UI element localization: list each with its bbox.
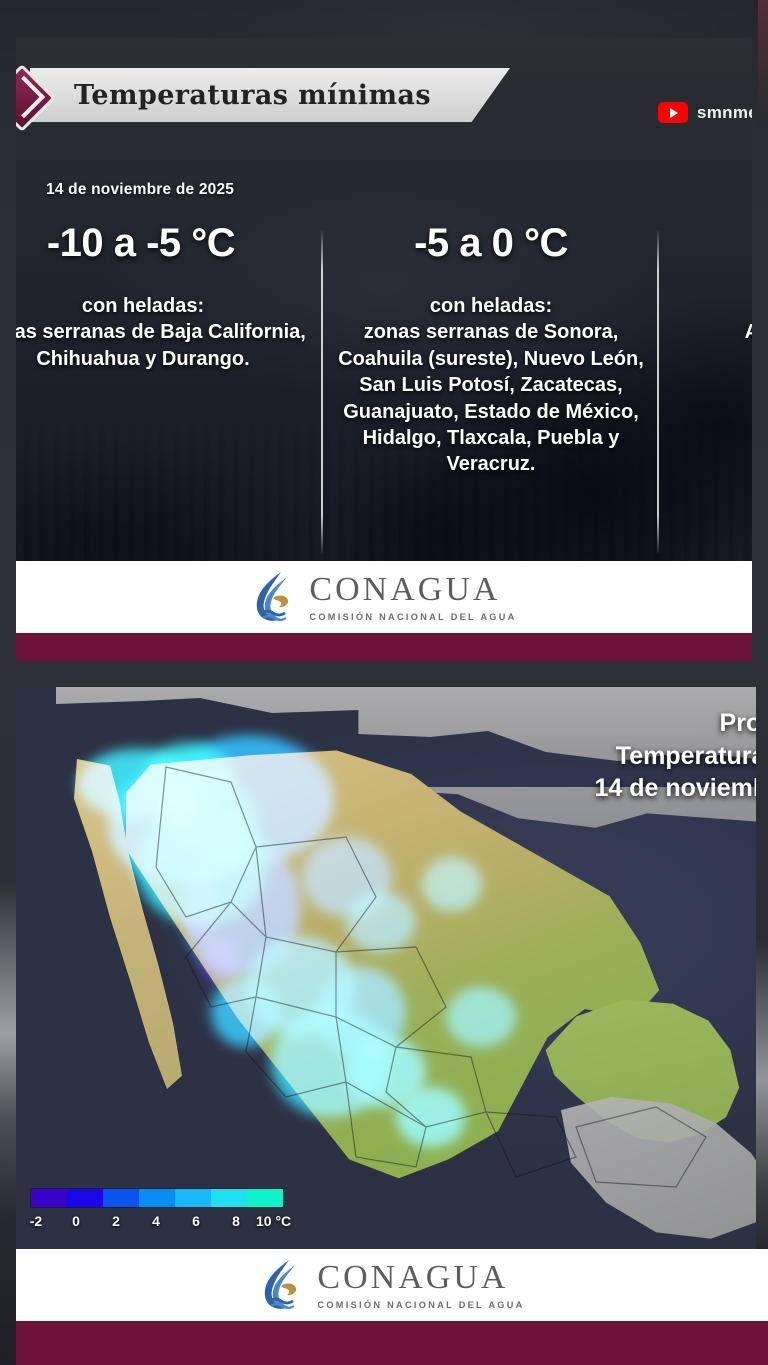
colorbar-swatches [30,1188,284,1208]
slide-mapa-pronostico[interactable]: Pronóst Temperaturas Mí 14 de noviembre … [16,687,756,1249]
colorbar-tick-2: 2 [96,1213,136,1229]
heladas-label-2: con heladas: [332,293,650,319]
temperature-range-1: -10 a -5 °C [16,223,308,263]
colorbar-tick-6: 10 °C [256,1213,306,1229]
temperature-regions-2: con heladas: zonas serranas de Sonora, C… [332,293,650,478]
conagua-logo-text: CONAGUA COMISIÓN NACIONAL DEL AGUA [309,573,516,622]
colorbar-tick-labels: -2 0 2 4 6 8 10 °C [16,1213,306,1229]
conagua-logo-text-bottom: CONAGUA COMISIÓN NACIONAL DEL AGUA [317,1261,524,1310]
column-divider-1 [321,231,323,553]
colorbar-swatch-0 [31,1189,67,1207]
colorbar-swatch-3 [139,1189,175,1207]
maroon-bar-bottom [16,1321,768,1365]
temperature-colorbar-legend: -2 0 2 4 6 8 10 °C [16,1188,316,1229]
conagua-subtitle-bottom: COMISIÓN NACIONAL DEL AGUA [317,1300,524,1310]
regions-text-1: zonas serranas de Baja California, Chihu… [16,321,306,369]
conagua-drop-icon-bottom [259,1258,303,1312]
right-edge-glow [754,940,768,1270]
temperature-regions-1: con heladas: zonas serranas de Baja Cali… [16,293,308,372]
conagua-drop-icon [251,570,295,624]
map-title-line3: 14 de noviembre d [594,772,756,805]
maroon-bar-top [16,633,752,661]
temperature-column-2: -5 a 0 °C con heladas: zonas serranas de… [332,223,650,478]
temperature-column-3: 0 zona Aguasc Michoa [668,223,752,346]
map-title: Pronóst Temperaturas Mí 14 de noviembre … [594,707,756,805]
colorbar-swatch-4 [175,1189,211,1207]
page-title: Temperaturas mínimas [74,80,431,111]
header-banner: Temperaturas mínimas [16,68,516,122]
colorbar-tick-0: -2 [16,1213,56,1229]
top-right-edge-glow [758,0,768,120]
temperature-range-2: -5 a 0 °C [332,223,650,263]
conagua-name-bottom: CONAGUA [317,1261,508,1295]
temperature-columns: -10 a -5 °C con heladas: zonas serranas … [16,223,752,563]
colorbar-tick-4: 6 [176,1213,216,1229]
conagua-name: CONAGUA [309,573,500,607]
conagua-subtitle: COMISIÓN NACIONAL DEL AGUA [309,612,516,622]
regions-text-2: zonas serranas de Sonora, Coahuila (sure… [338,321,644,475]
conagua-logo-bar-top: CONAGUA COMISIÓN NACIONAL DEL AGUA [16,561,752,633]
left-edge-glow [0,880,16,1220]
colorbar-swatch-5 [211,1189,247,1207]
youtube-watermark[interactable]: smnme [658,102,752,123]
banner-shape: Temperaturas mínimas [30,68,510,122]
column-divider-2 [657,231,659,553]
colorbar-swatch-1 [67,1189,103,1207]
colorbar-swatch-2 [103,1189,139,1207]
heladas-label-1: con heladas: [16,293,308,319]
youtube-play-icon [658,102,688,123]
map-title-line1: Pronóst [594,707,756,740]
colorbar-tick-5: 8 [216,1213,256,1229]
map-title-line2: Temperaturas Mí [594,740,756,773]
conagua-logo-bar-bottom: CONAGUA COMISIÓN NACIONAL DEL AGUA [16,1249,768,1321]
colorbar-tick-3: 4 [136,1213,176,1229]
temperature-regions-3: zona Aguasc Michoa [668,293,752,346]
heladas-label-3: zona [668,293,752,319]
colorbar-swatch-6 [247,1189,283,1207]
youtube-channel-name: smnme [697,103,752,123]
temperature-column-1: -10 a -5 °C con heladas: zonas serranas … [16,223,308,372]
colorbar-tick-1: 0 [56,1213,96,1229]
regions-text-3: Aguasc Michoa [745,321,752,343]
forecast-date: 14 de noviembre de 2025 [46,181,234,199]
